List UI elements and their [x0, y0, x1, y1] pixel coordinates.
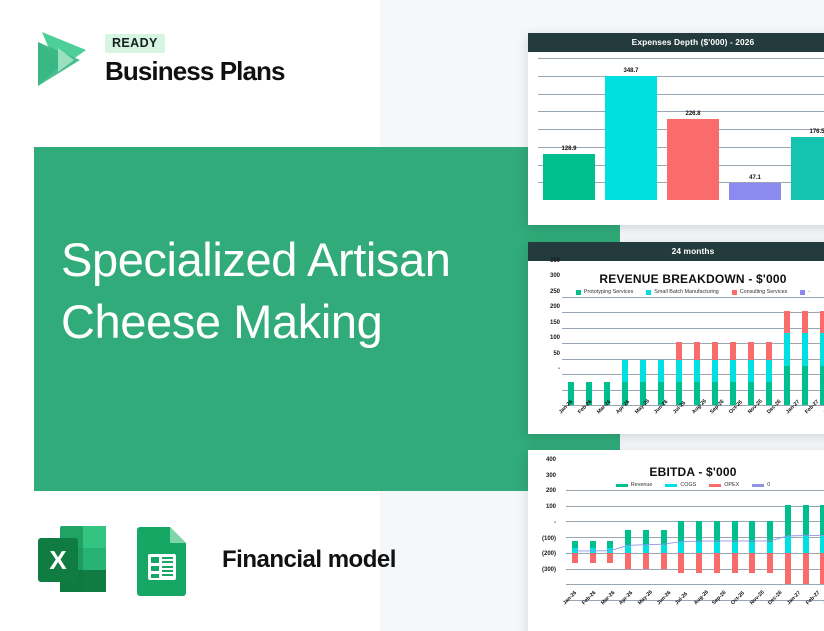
bar-segment [640, 360, 646, 382]
bar [667, 119, 720, 200]
y-tick-label: - [554, 520, 556, 526]
legend-label: COGS [680, 482, 696, 488]
bar-segment [748, 342, 754, 360]
y-tick-label: - [558, 366, 560, 372]
bar-segment [784, 366, 790, 405]
bar-segment [658, 360, 664, 382]
legend-item: COGS [665, 482, 696, 488]
bar-column [800, 297, 810, 405]
x-tick-label: Jan-26 [558, 404, 569, 415]
page-title: Specialized Artisan Cheese Making [61, 229, 541, 352]
x-tick: Jun-26 [653, 411, 663, 417]
x-tick: Nov-26 [749, 602, 759, 608]
x-tick: Jul-26 [674, 602, 684, 608]
x-tick: Mar-26 [596, 411, 606, 417]
zero-trend-line [566, 490, 824, 600]
y-tick-label: 150 [550, 320, 560, 326]
y-axis-ebitda: 400300200100-(100)(200)(300) [532, 460, 558, 570]
x-tick: Sep-26 [709, 411, 719, 417]
bar-column [584, 297, 594, 405]
chart-title-ebitda: EBITDA - $'000 [536, 465, 824, 479]
bar [605, 76, 658, 200]
bar-column [620, 297, 630, 405]
bar-column: 226.8 [667, 58, 720, 200]
bar-segment [766, 342, 772, 360]
bar-column [746, 297, 756, 405]
bar-value-label: 176.5 [809, 129, 824, 135]
ready-badge: READY [105, 34, 165, 53]
y-tick-label: 250 [550, 289, 560, 295]
y-tick-label: (200) [542, 551, 556, 557]
bar-segment [694, 360, 700, 382]
x-axis-revenue: Jan-26Feb-26Mar-26Apr-26May-26Jun-26Jul-… [554, 411, 824, 417]
x-tick: Jan-26 [558, 411, 568, 417]
bar-segment [712, 342, 718, 360]
bar-value-label: 47.1 [749, 175, 761, 181]
y-tick-label: 100 [550, 335, 560, 341]
footer-label: Financial model [222, 546, 396, 574]
bar-column [764, 297, 774, 405]
x-tick: Feb-27 [804, 411, 814, 417]
x-tick: Dec-26 [766, 411, 776, 417]
bar-segment [820, 311, 824, 333]
x-tick: Feb-26 [581, 602, 591, 608]
bar-value-label: 226.8 [685, 111, 700, 117]
x-tick: May-26 [637, 602, 647, 608]
bar [729, 183, 782, 200]
y-tick-label: (300) [542, 567, 556, 573]
x-tick: Apr-26 [618, 602, 628, 608]
bar-column [566, 297, 576, 405]
chart-card-expenses[interactable]: Expenses Depth ($'000) - 2026 128.9348.7… [528, 33, 824, 225]
legend-item: Consulting Services [732, 289, 788, 295]
poster-canvas: READY Business Plans Specialized Artisan… [0, 0, 824, 631]
y-tick-label: 50 [553, 351, 560, 357]
y-tick-label: (100) [542, 536, 556, 542]
x-tick: Dec-26 [767, 602, 777, 608]
chart-legend-ebitda: RevenueCOGSOPEX0 [536, 482, 824, 488]
x-tick: Sep-26 [711, 602, 721, 608]
bar-segment [694, 342, 700, 360]
y-tick-label: 300 [550, 273, 560, 279]
bar-column [656, 297, 666, 405]
chart-header-revenue: 24 months [528, 242, 824, 261]
svg-text:X: X [49, 545, 67, 575]
bar-segment [820, 333, 824, 365]
legend-item: - [800, 289, 810, 295]
y-tick-label: 200 [546, 488, 556, 494]
plot-area-ebitda [566, 490, 824, 600]
bar-segment [748, 360, 754, 382]
bar-segment [802, 366, 808, 405]
legend-label: - [808, 289, 810, 295]
chart-legend-revenue: Prototyping ServicesSmall Batch Manufact… [536, 289, 824, 295]
x-tick: Jan-27 [786, 602, 796, 608]
bars-revenue [562, 297, 824, 405]
bar-segment [676, 360, 682, 382]
bar-segment [676, 342, 682, 360]
bar-segment [730, 382, 736, 405]
x-tick: Feb-27 [805, 602, 815, 608]
chart-header-expenses: Expenses Depth ($'000) - 2026 [528, 33, 824, 52]
legend-swatch [665, 484, 677, 487]
plot-area-expenses: 128.9348.7226.847.1176.5 [538, 58, 824, 200]
bars-expenses: 128.9348.7226.847.1176.5 [538, 58, 824, 200]
chart-card-revenue[interactable]: 24 months REVENUE BREAKDOWN - $'000 Prot… [528, 242, 824, 434]
bar [543, 154, 596, 200]
x-tick: Jul-26 [672, 411, 682, 417]
x-tick: Jun-26 [656, 602, 666, 608]
legend-swatch [709, 484, 721, 487]
legend-label: OPEX [724, 482, 739, 488]
y-axis-revenue: 35030025020015010050- [536, 261, 562, 369]
bar-segment [730, 360, 736, 382]
bar-segment [802, 333, 808, 365]
chart-title-revenue: REVENUE BREAKDOWN - $'000 [536, 272, 824, 286]
bar [791, 137, 824, 200]
y-tick-label: 200 [550, 304, 560, 310]
legend-label: 0 [767, 482, 770, 488]
x-tick: Oct-26 [728, 411, 738, 417]
legend-swatch [646, 290, 651, 295]
bar-segment [766, 360, 772, 382]
legend-label: Revenue [631, 482, 653, 488]
legend-label: Prototyping Services [584, 289, 633, 295]
legend-swatch [732, 290, 737, 295]
legend-swatch [800, 290, 805, 295]
x-tick: Feb-26 [577, 411, 587, 417]
footer-formats: X Financial model [34, 524, 396, 596]
bar-column [602, 297, 612, 405]
bar-column: 47.1 [729, 58, 782, 200]
x-tick: Jan-27 [785, 411, 795, 417]
y-tick-label: 300 [546, 473, 556, 479]
brand-name: Business Plans [105, 56, 285, 87]
y-tick-label: 350 [550, 258, 560, 264]
bar-column [710, 297, 720, 405]
bar-column [638, 297, 648, 405]
legend-item: Prototyping Services [576, 289, 633, 295]
bar-segment [712, 360, 718, 382]
bar-column [728, 297, 738, 405]
bar-segment [730, 342, 736, 360]
x-tick: Aug-26 [693, 602, 703, 608]
plot-area-revenue [562, 297, 824, 405]
bar-column: 176.5 [791, 58, 824, 200]
bar-column [692, 297, 702, 405]
y-tick-label: 400 [546, 457, 556, 463]
x-axis-ebitda: Jan-26Feb-26Mar-26Apr-26May-26Jun-26Jul-… [558, 602, 824, 608]
bar-segment [820, 366, 824, 405]
microsoft-excel-icon: X [34, 524, 110, 596]
x-tick: Mar-26 [600, 602, 610, 608]
bar-segment [784, 333, 790, 365]
google-sheets-icon [126, 524, 198, 596]
x-tick: Jan-26 [562, 602, 572, 608]
legend-swatch [616, 484, 628, 487]
bar-column [674, 297, 684, 405]
legend-item: Small Batch Manufacturing [646, 289, 718, 295]
brand-logo: READY Business Plans [28, 26, 285, 92]
bar-column: 348.7 [605, 58, 658, 200]
legend-item: Revenue [616, 482, 653, 488]
legend-item: 0 [752, 482, 770, 488]
legend-swatch [576, 290, 581, 295]
bar-value-label: 128.9 [561, 146, 576, 152]
x-tick: May-26 [634, 411, 644, 417]
legend-label: Small Batch Manufacturing [654, 289, 718, 295]
bar-column [782, 297, 792, 405]
legend-label: Consulting Services [740, 289, 788, 295]
bar-segment [802, 311, 808, 333]
x-tick: Oct-26 [730, 602, 740, 608]
x-tick: Nov-26 [747, 411, 757, 417]
x-tick: Apr-26 [615, 411, 625, 417]
legend-item: OPEX [709, 482, 739, 488]
bar-segment [622, 360, 628, 382]
bar-segment [784, 311, 790, 333]
play-triangle-logo-icon [28, 26, 92, 92]
bar-segment [766, 382, 772, 405]
chart-card-ebitda[interactable]: EBITDA - $'000 RevenueCOGSOPEX0 40030020… [528, 450, 824, 631]
legend-swatch [752, 484, 764, 487]
bar-column: 128.9 [543, 58, 596, 200]
bar-segment [748, 382, 754, 405]
x-tick: Aug-26 [691, 411, 701, 417]
bar-value-label: 348.7 [623, 68, 638, 74]
y-tick-label: 100 [546, 504, 556, 510]
bar-column [818, 297, 824, 405]
